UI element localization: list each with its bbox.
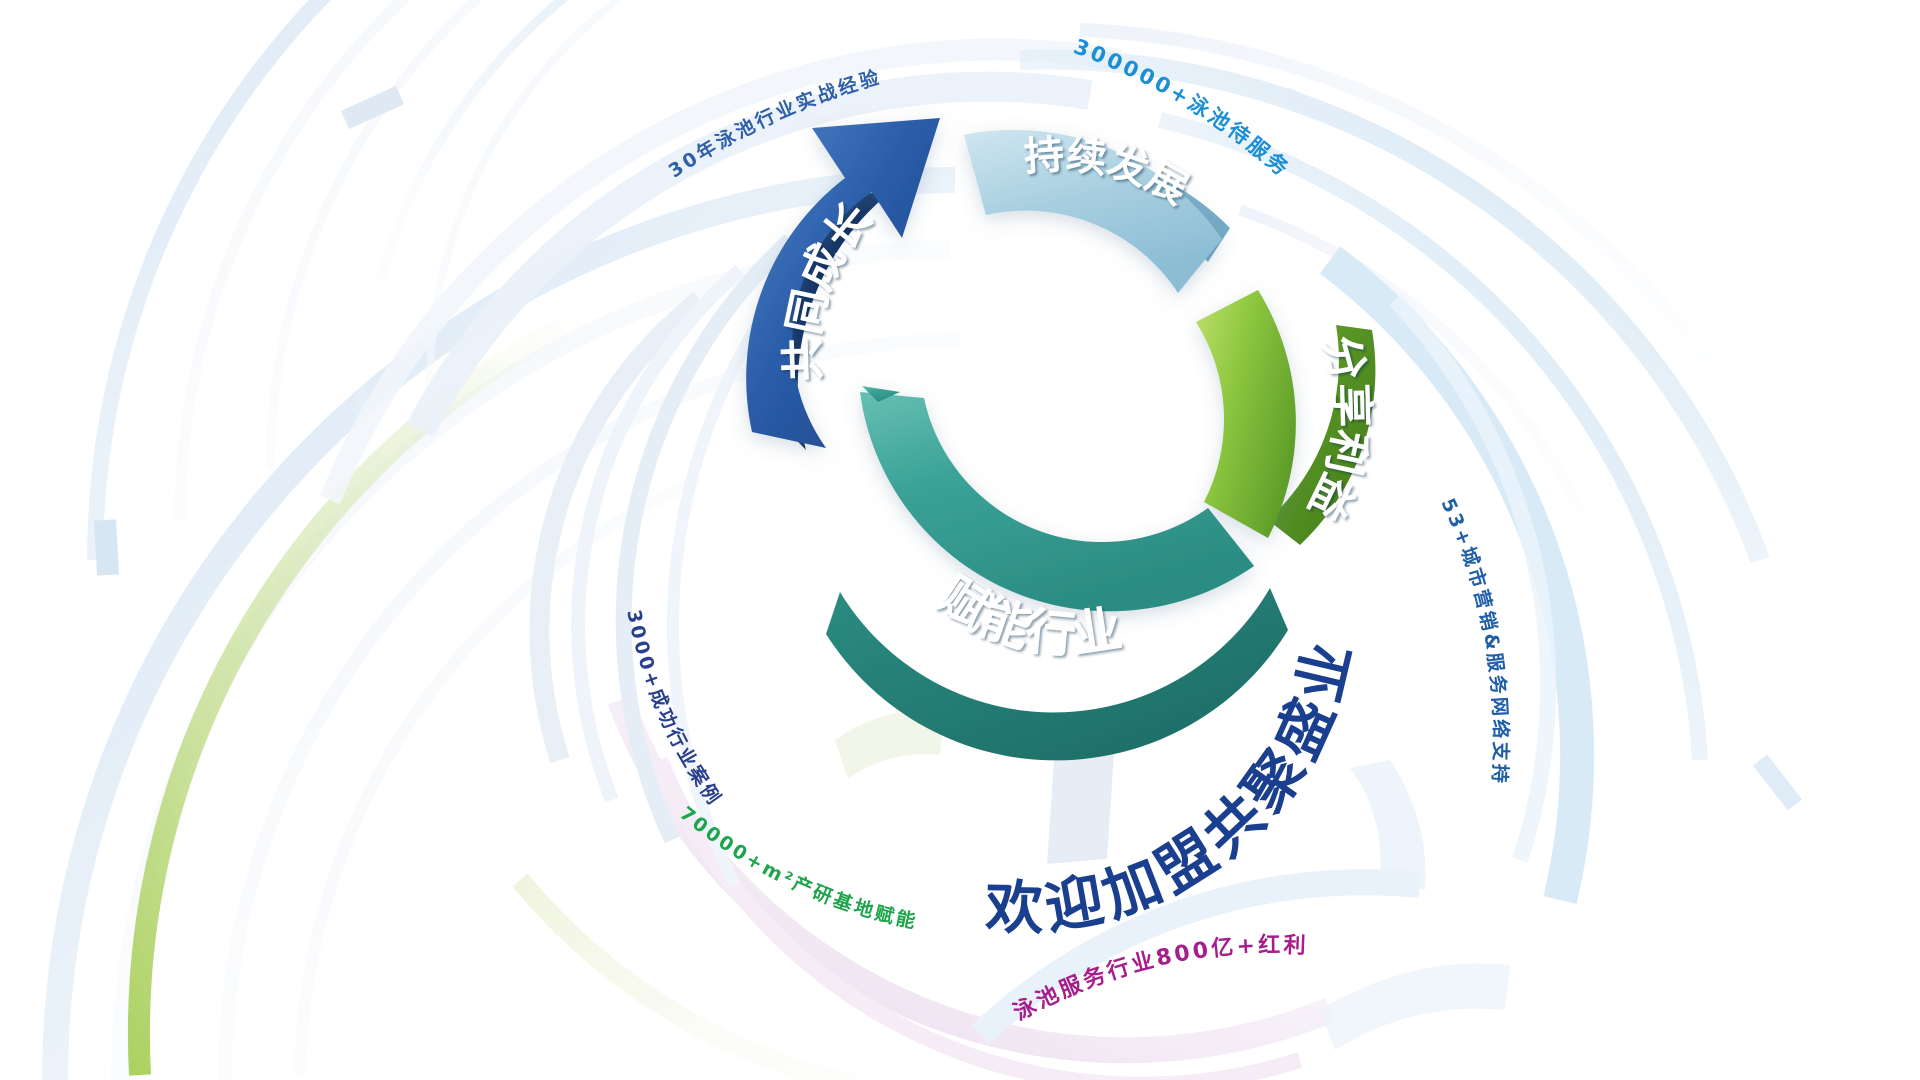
stat-text-800yi-dividend: 泳池服务行业800亿+红利 <box>1010 932 1309 1026</box>
stat-text-300000-pools: 300000+泳池待服务 <box>1070 34 1294 181</box>
stat-text-70000-base: 70000+m²产研基地赋能 <box>675 802 920 933</box>
infographic-canvas: 共同成长 持续发展 分享利益 赋能行业 30年泳池行业实战经验 <box>0 0 1920 1080</box>
stat-text-53-cities: 53+城市营销&服务网络支持 <box>1437 495 1513 786</box>
stat-text-30-years: 30年泳池行业实战经验 <box>665 65 884 182</box>
annotation-text-layer: 30年泳池行业实战经验 300000+泳池待服务 53+城市营销&服务网络支持 … <box>0 0 1920 1080</box>
page-headline: 欢迎加盟共聚盛业 <box>984 630 1366 942</box>
stat-text-3000-cases: 3000+成功行业案例 <box>622 608 727 811</box>
